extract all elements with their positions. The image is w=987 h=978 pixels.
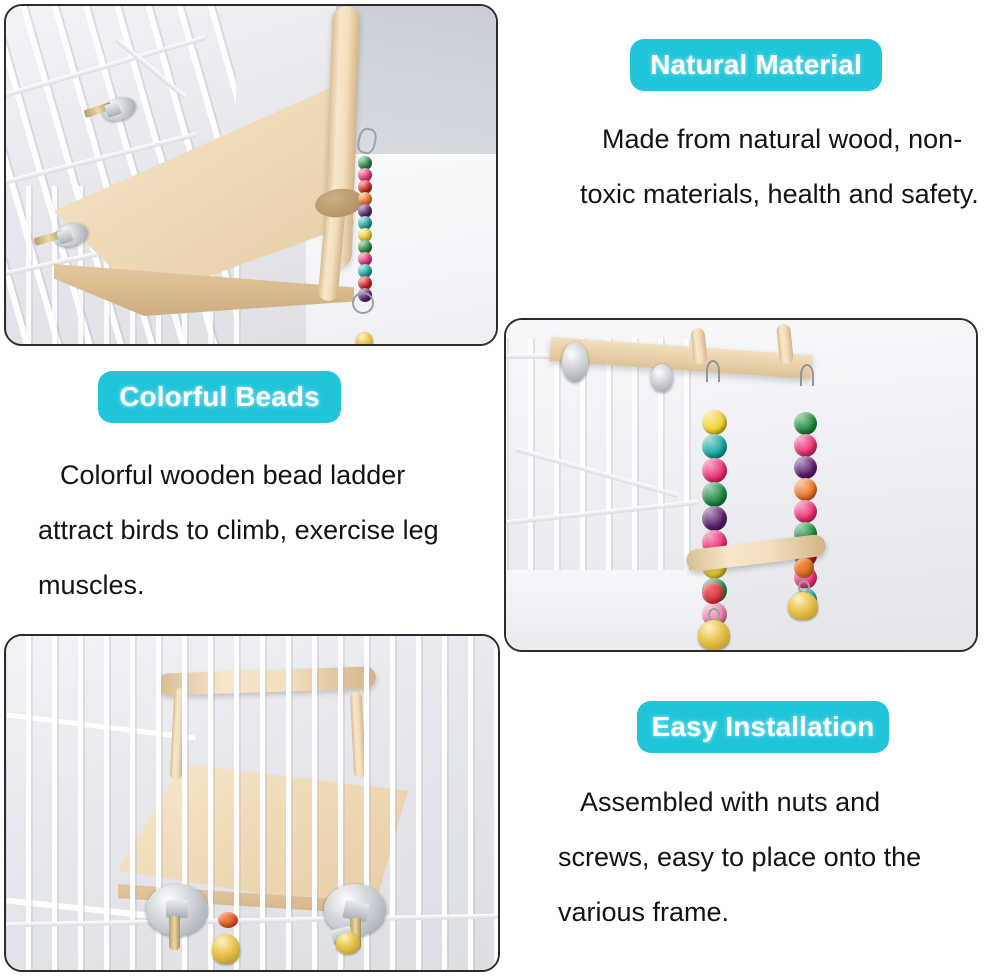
photo-panel-bottom-left <box>4 634 500 972</box>
bead <box>702 410 727 435</box>
scene-mounting-hardware <box>6 636 498 970</box>
infographic-page: Natural Material Made from natural wood,… <box>0 0 987 978</box>
scene-bead-swing <box>506 320 976 650</box>
cage-floor <box>504 570 722 652</box>
metal-hook-right <box>800 364 814 386</box>
photo-panel-middle-right <box>504 318 978 652</box>
body-text-easy-installation: Assembled with nuts and screws, easy to … <box>558 775 978 940</box>
bead <box>794 434 817 457</box>
bell-icon <box>356 332 373 346</box>
mount-screw <box>169 916 180 950</box>
bead <box>702 506 727 531</box>
metal-hook-left <box>706 360 720 382</box>
bead <box>702 482 727 507</box>
bead <box>794 412 817 435</box>
badge-colorful-beads: Colorful Beads <box>98 371 341 423</box>
photo-panel-top-left <box>4 4 498 346</box>
bell-icon <box>788 592 818 620</box>
bead <box>794 456 817 479</box>
badge-natural-material: Natural Material <box>630 39 882 91</box>
mount-disc <box>562 342 588 382</box>
bead <box>702 582 724 604</box>
bead <box>702 458 727 483</box>
bell-icon <box>336 932 360 954</box>
bell-icon <box>212 934 240 964</box>
bell-icon <box>698 620 730 650</box>
bead <box>218 912 238 928</box>
scene-perch-platform <box>6 6 496 344</box>
mount-disc <box>651 364 673 392</box>
bead <box>794 558 814 578</box>
bead <box>702 434 727 459</box>
body-text-natural-material: Made from natural wood, non-toxic materi… <box>580 112 980 222</box>
bead <box>794 478 817 501</box>
bead <box>794 500 817 523</box>
metal-ring <box>352 292 374 314</box>
body-text-colorful-beads: Colorful wooden bead ladder attract bird… <box>38 448 478 613</box>
badge-easy-installation: Easy Installation <box>637 701 889 753</box>
